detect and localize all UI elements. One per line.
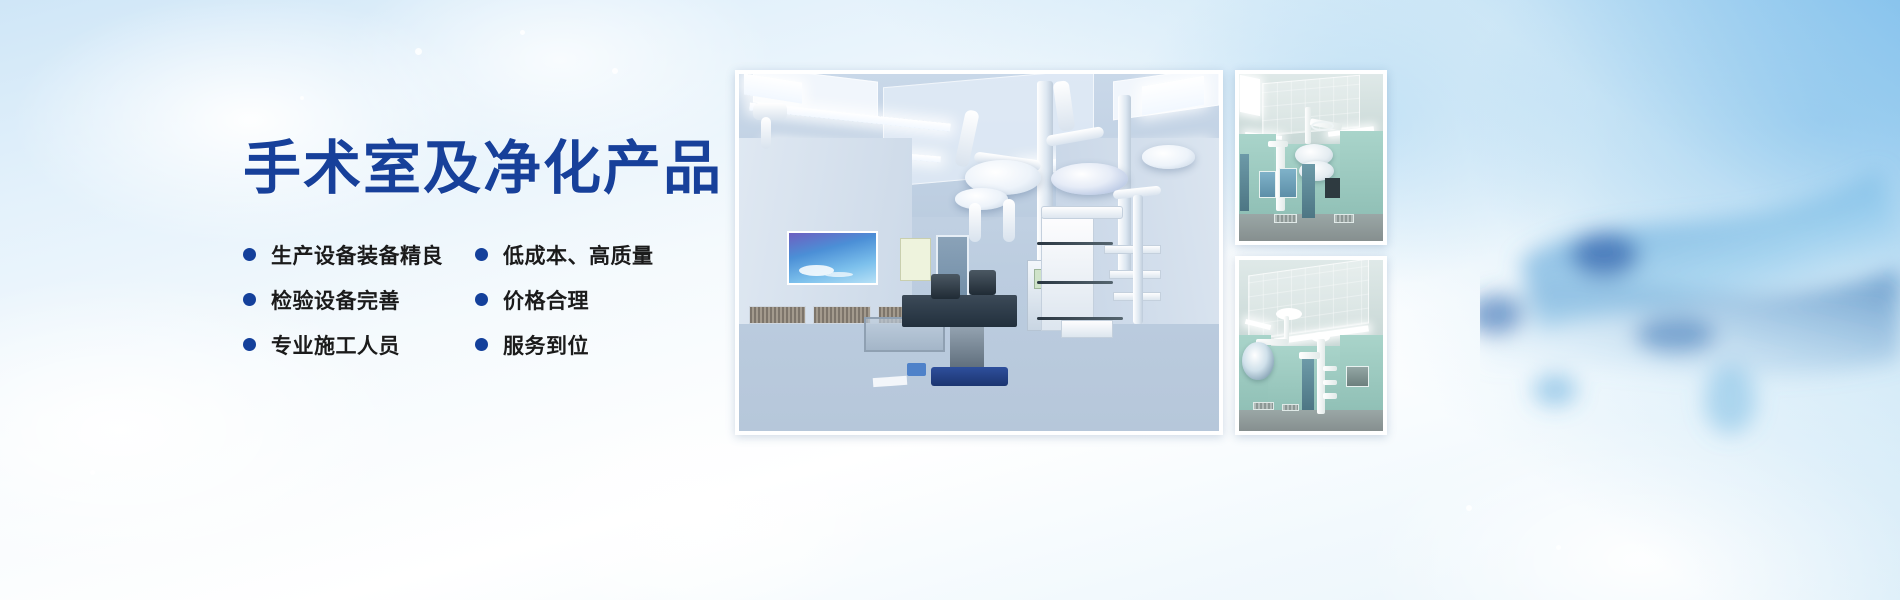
pendant-arm (1268, 141, 1288, 148)
wall-monitor (1325, 178, 1339, 198)
pendant-shelf (1323, 366, 1337, 371)
pendant-rail (1037, 317, 1123, 320)
sparkle-dot (415, 48, 422, 55)
bullet-dot-icon (475, 338, 488, 351)
microscope-head (969, 270, 995, 295)
sparkle-dot (520, 30, 525, 35)
surgical-light-dome (1242, 342, 1274, 380)
ceiling-light-panel (1240, 75, 1260, 116)
surgical-light-dome-far-right (1142, 145, 1195, 168)
equipment-drawer (1061, 320, 1114, 338)
sparkle-dot (1556, 545, 1561, 550)
operating-room-main-photo (735, 70, 1223, 435)
pendant-rail (1037, 281, 1114, 284)
feature-item-3: 检验设备完善 (243, 285, 475, 315)
bullet-dot-icon (243, 293, 256, 306)
wall-cabinet (1346, 366, 1369, 387)
monitor-support-arm (1003, 199, 1015, 242)
ceiling-camera-head (761, 117, 772, 149)
wall-info-board (900, 238, 931, 281)
wall-display-panel (1259, 171, 1276, 198)
room-door (1302, 164, 1315, 217)
sparkle-dot (1466, 505, 1472, 511)
feature-label: 价格合理 (503, 285, 589, 315)
microscope-head (931, 274, 960, 299)
return-air-grille (1282, 404, 1299, 412)
feature-item-6: 服务到位 (475, 330, 707, 360)
bullet-dot-icon (243, 338, 256, 351)
surgical-light-satellite (955, 188, 1008, 209)
abstract-blue-swoosh-graphic (1480, 0, 1900, 600)
feature-item-5: 专业施工人员 (243, 330, 475, 360)
sparkle-dot (90, 470, 95, 475)
sparkle-dot (300, 96, 304, 100)
operating-table (902, 295, 1017, 327)
feature-label: 检验设备完善 (271, 285, 400, 315)
operating-table-column (950, 327, 984, 370)
operating-room-main-image (739, 74, 1219, 431)
floor-return-air-grille (749, 306, 807, 324)
feature-label: 专业施工人员 (271, 330, 400, 360)
wall-sky-picture (787, 231, 878, 285)
bullet-dot-icon (475, 293, 488, 306)
return-air-grille (1274, 214, 1297, 222)
operating-room-thumb-2-image (1239, 260, 1383, 431)
bullet-dot-icon (243, 248, 256, 261)
ceiling-mount-disc (1276, 308, 1302, 320)
headline-text-block: 手术室及净化产品 生产设备装备精良 低成本、高质量 检验设备完善 价格合理 专业… (243, 140, 713, 367)
page-title: 手术室及净化产品 (243, 140, 713, 198)
feature-list: 生产设备装备精良 低成本、高质量 检验设备完善 价格合理 专业施工人员 服务到位 (243, 232, 713, 367)
equipment-pendant-top-shelf (1041, 206, 1123, 218)
equipment-pendant-column (1317, 339, 1326, 414)
feature-label: 生产设备装备精良 (271, 240, 443, 270)
operating-room-thumb-1-image (1239, 74, 1383, 241)
feature-label: 服务到位 (503, 330, 589, 360)
sparkle-dot (612, 68, 618, 74)
pendant-rail (1037, 242, 1114, 245)
return-air-grille (1253, 402, 1273, 411)
wall-display-panel (1279, 168, 1296, 198)
floor (1239, 214, 1383, 241)
feature-label: 低成本、高质量 (503, 240, 654, 270)
floor-return-air-grille (813, 306, 871, 324)
pendant-shelf (1323, 380, 1337, 385)
pendant-arm (1299, 352, 1319, 359)
operating-table-base (931, 367, 1008, 387)
floor (1239, 410, 1383, 431)
right-wall (1340, 131, 1383, 221)
equipment-pendant-tower (1041, 217, 1094, 331)
bullet-dot-icon (475, 248, 488, 261)
feature-item-1: 生产设备装备精良 (243, 240, 475, 270)
pendant-support-post (1133, 195, 1144, 324)
monitor-support-arm (969, 203, 981, 242)
surgical-light-ring (1311, 121, 1334, 131)
floor-device (907, 363, 926, 375)
pendant-shelf (1323, 393, 1337, 398)
feature-item-4: 价格合理 (475, 285, 707, 315)
banner-root: 手术室及净化产品 生产设备装备精良 低成本、高质量 检验设备完善 价格合理 专业… (0, 0, 1900, 600)
floor-papers (873, 376, 907, 387)
feature-item-2: 低成本、高质量 (475, 240, 707, 270)
return-air-grille (1334, 214, 1354, 222)
ceiling-camera-arm (753, 103, 787, 121)
room-door (1302, 359, 1314, 410)
room-door (1240, 154, 1249, 211)
operating-room-thumb-1-photo (1235, 70, 1387, 245)
operating-room-thumb-2-photo (1235, 256, 1387, 435)
